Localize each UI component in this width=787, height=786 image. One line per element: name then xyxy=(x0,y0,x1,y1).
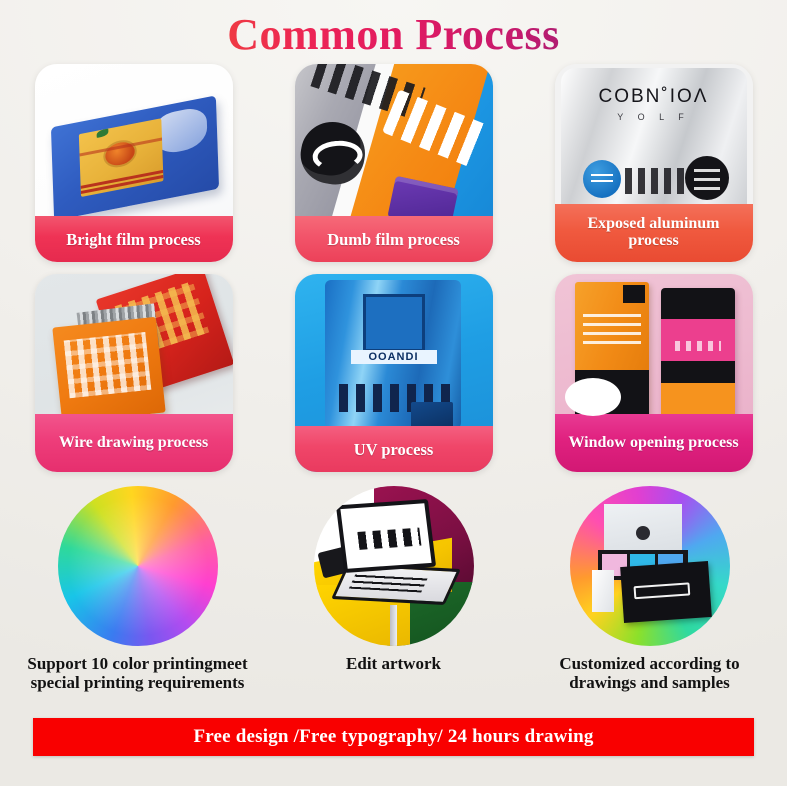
feature-caption-customized: Customized according to drawings and sam… xyxy=(525,654,775,692)
feature-caption-color-printing: Support 10 color printingmeet special pr… xyxy=(13,654,263,692)
process-card-exposed-aluminum[interactable]: COBN˚IOΛ Y O L F Exposed aluminum proces… xyxy=(555,64,753,262)
footer-banner[interactable]: Free design /Free typography/ 24 hours d… xyxy=(33,718,754,756)
card-label-bright-film: Bright film process xyxy=(35,216,233,262)
photo-brand-text: COBN˚IOΛ xyxy=(561,86,747,108)
cosmetics-samples-icon xyxy=(570,486,730,646)
feature-caption-edit-artwork: Edit artwork xyxy=(346,654,441,673)
card-label-dumb-film: Dumb film process xyxy=(295,216,493,262)
card-label-window-opening: Window opening process xyxy=(555,414,753,472)
feature-customized[interactable]: Customized according to drawings and sam… xyxy=(525,486,775,692)
footer-banner-text: Free design /Free typography/ 24 hours d… xyxy=(193,726,593,748)
color-wheel-icon xyxy=(58,486,218,646)
card-label-exposed-aluminum: Exposed aluminum process xyxy=(555,204,753,262)
feature-color-printing[interactable]: Support 10 color printingmeet special pr… xyxy=(13,486,263,692)
card-label-uv: UV process xyxy=(295,426,493,472)
process-card-dumb-film[interactable]: Dumb film process xyxy=(295,64,493,262)
photo-sub-text: Y O L F xyxy=(561,112,747,122)
card-label-wire-drawing: Wire drawing process xyxy=(35,414,233,472)
laptop-icon xyxy=(314,486,474,646)
process-card-uv[interactable]: OOANDI UV process xyxy=(295,274,493,472)
feature-row: Support 10 color printingmeet special pr… xyxy=(0,486,787,692)
process-card-wire-drawing[interactable]: Wire drawing process xyxy=(35,274,233,472)
feature-edit-artwork[interactable]: Edit artwork xyxy=(269,486,519,692)
photo-tube-brand-text: OOANDI xyxy=(351,350,437,364)
process-card-window-opening[interactable]: Window opening process xyxy=(555,274,753,472)
process-card-grid: Bright film process Dumb film process CO… xyxy=(0,64,787,472)
process-card-bright-film[interactable]: Bright film process xyxy=(35,64,233,262)
poster-root: Common Process Bright film process xyxy=(0,0,787,786)
page-title: Common Process xyxy=(0,0,787,58)
